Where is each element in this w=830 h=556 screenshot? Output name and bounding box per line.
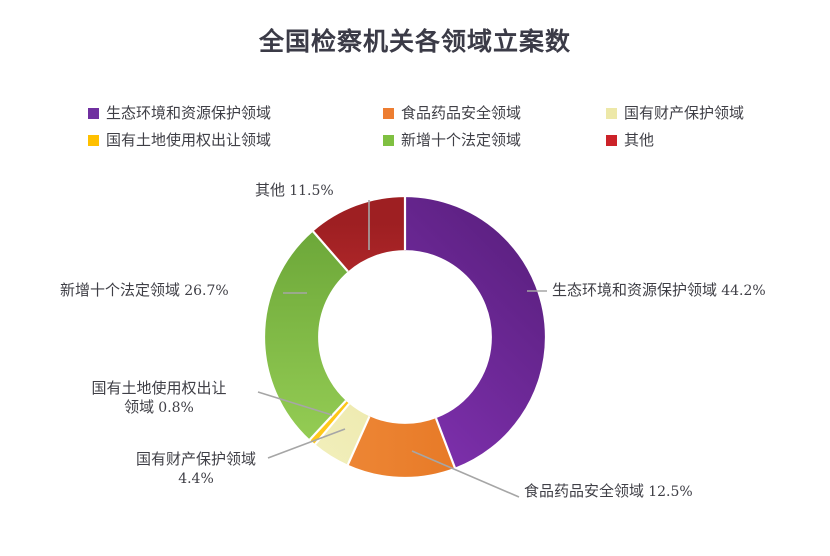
data-label-food-value: 12.5% — [648, 484, 692, 500]
donut-segment-eco[interactable] — [292, 224, 519, 451]
data-label-eco-value: 44.2% — [721, 283, 765, 299]
data-label-new-fields-name: 新增十个法定领域 — [60, 282, 180, 299]
donut-segment-food[interactable] — [292, 224, 519, 451]
leader-lines — [258, 200, 547, 497]
data-label-eco-name: 生态环境和资源保护领域 — [552, 282, 717, 299]
legend-item-food[interactable]: 食品药品安全领域 — [383, 100, 606, 127]
data-label-new-fields: 新增十个法定领域 26.7% — [60, 281, 229, 301]
data-label-land-name: 国有土地使用权出让 — [91, 380, 226, 397]
data-label-land-value: 0.8% — [158, 400, 194, 416]
legend-label-food: 食品药品安全领域 — [401, 106, 521, 121]
data-label-eco: 生态环境和资源保护领域 44.2% — [552, 281, 766, 301]
leader-line-land — [258, 392, 332, 415]
chart-title: 全国检察机关各领域立案数 — [0, 22, 830, 58]
legend-swatch-land — [88, 135, 99, 146]
chart-legend: 生态环境和资源保护领域 食品药品安全领域 国有财产保护领域 国有土地使用权出让领… — [88, 100, 748, 154]
legend-item-land[interactable]: 国有土地使用权出让领域 — [88, 127, 383, 154]
legend-label-land: 国有土地使用权出让领域 — [106, 133, 271, 148]
legend-swatch-eco — [88, 108, 99, 119]
data-label-land: 国有土地使用权出让 领域 0.8% — [64, 379, 254, 418]
legend-swatch-property — [606, 108, 617, 119]
legend-label-eco: 生态环境和资源保护领域 — [106, 106, 271, 121]
legend-item-new-fields[interactable]: 新增十个法定领域 — [383, 127, 606, 154]
legend-label-other: 其他 — [624, 133, 654, 148]
legend-item-eco[interactable]: 生态环境和资源保护领域 — [88, 100, 383, 127]
chart-container: 全国检察机关各领域立案数 生态环境和资源保护领域 食品药品安全领域 国有财产保护… — [0, 0, 830, 556]
donut-segment-property[interactable] — [292, 224, 519, 451]
segment-separators — [310, 197, 455, 468]
legend-label-new-fields: 新增十个法定领域 — [401, 133, 521, 148]
leader-line-property — [268, 429, 345, 458]
data-label-land-name2: 领域 — [124, 399, 154, 416]
legend-item-other[interactable]: 其他 — [606, 127, 748, 154]
data-label-new-fields-value: 26.7% — [184, 283, 228, 299]
donut-segment-land[interactable] — [292, 224, 519, 451]
data-label-other-value: 11.5% — [289, 183, 333, 199]
legend-item-property[interactable]: 国有财产保护领域 — [606, 100, 748, 127]
donut-segments — [292, 197, 519, 468]
leader-line-food — [412, 451, 519, 497]
data-label-property-name: 国有财产保护领域 — [136, 451, 256, 468]
data-label-property: 国有财产保护领域 4.4% — [117, 450, 275, 489]
data-label-other: 其他 11.5% — [255, 181, 334, 201]
legend-swatch-food — [383, 108, 394, 119]
donut-segment-new-fields[interactable] — [292, 224, 519, 451]
data-label-food-name: 食品药品安全领域 — [524, 483, 644, 500]
data-label-property-value: 4.4% — [178, 471, 214, 487]
legend-label-property: 国有财产保护领域 — [624, 106, 744, 121]
donut-segment-other[interactable] — [292, 224, 519, 451]
data-label-food: 食品药品安全领域 12.5% — [524, 482, 693, 502]
legend-swatch-other — [606, 135, 617, 146]
data-label-other-name: 其他 — [255, 182, 285, 199]
legend-swatch-new-fields — [383, 135, 394, 146]
